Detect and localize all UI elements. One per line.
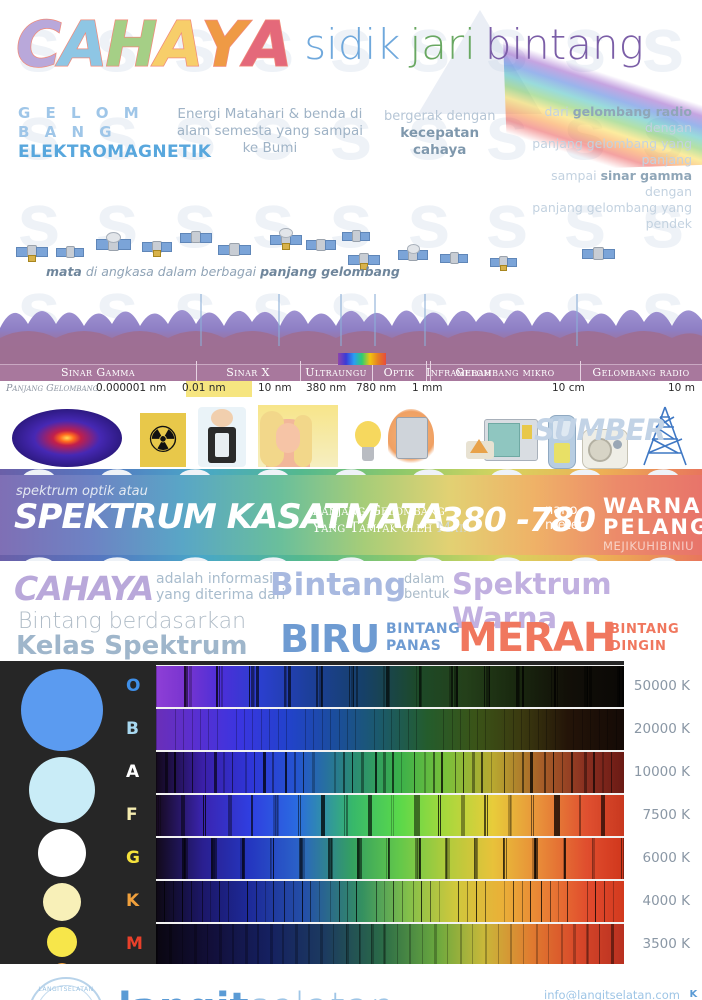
absorption-line xyxy=(251,666,254,707)
absorption-line xyxy=(219,666,220,707)
absorption-line xyxy=(351,666,353,707)
absorption-line xyxy=(284,666,286,707)
sources-label: SUMBER xyxy=(534,413,666,447)
title-letter: H xyxy=(106,14,156,76)
absorption-line xyxy=(383,709,384,750)
wave-mountains xyxy=(0,294,702,346)
absorption-line xyxy=(245,924,248,965)
wavelength-axis-title: Panjang Gelombang xyxy=(6,383,98,394)
stellar-spectra-chart: OBAFGKM 50000 K20000 K10000 K7500 K6000 … xyxy=(0,661,702,964)
absorption-line xyxy=(305,709,306,750)
absorption-line xyxy=(244,838,246,879)
absorption-line xyxy=(247,881,248,922)
absorption-line xyxy=(587,924,590,965)
absorption-line xyxy=(295,924,298,965)
absorption-line xyxy=(334,752,336,793)
absorption-line xyxy=(374,709,375,750)
pj-1b: Gelombang xyxy=(370,503,445,519)
absorption-line xyxy=(472,752,475,793)
absorption-line xyxy=(205,752,206,793)
pj-2a: Yang Tampak oleh xyxy=(312,520,437,536)
absorption-line xyxy=(202,881,203,922)
absorption-line xyxy=(529,709,530,750)
absorption-line xyxy=(282,924,284,965)
absorption-line xyxy=(599,924,601,965)
satellites-caption: mata di angkasa dalam berbagai panjang g… xyxy=(46,264,400,279)
absorption-line xyxy=(546,709,547,750)
absorption-line xyxy=(303,752,304,793)
absorption-line xyxy=(476,881,477,922)
absorption-line xyxy=(393,881,394,922)
star-disc-f xyxy=(43,883,81,921)
absorption-line xyxy=(485,709,486,750)
absorption-line xyxy=(561,924,563,965)
range-gamma: sinar gamma xyxy=(601,168,692,183)
stmt-biru: BIRU xyxy=(280,617,379,661)
absorption-line xyxy=(312,752,315,793)
absorption-line xyxy=(589,666,592,707)
absorption-line xyxy=(263,752,266,793)
absorption-line xyxy=(402,881,403,922)
star-disc-b xyxy=(29,757,95,823)
contact-list: info@langitselatan.comfacebook.com/langi… xyxy=(459,988,680,1000)
absorption-line xyxy=(156,838,157,879)
absorption-line xyxy=(584,752,587,793)
absorption-line xyxy=(221,666,223,707)
em-band-label: Optik xyxy=(372,366,426,379)
absorption-line xyxy=(169,924,172,965)
absorption-line xyxy=(192,752,193,793)
caption-mid: di angkasa dalam berbagai xyxy=(82,264,260,279)
absorption-line xyxy=(463,752,464,793)
spectrum-lines xyxy=(156,838,624,879)
absorption-line xyxy=(217,709,218,750)
stmt-merah: MERAH xyxy=(458,615,615,661)
range-radio: gelombang radio xyxy=(573,104,692,119)
optik-rainbow-icon xyxy=(338,353,386,365)
spectrum-row-b xyxy=(156,708,624,751)
absorption-line xyxy=(261,709,262,750)
caption-bold-mata: mata xyxy=(46,264,82,279)
absorption-line xyxy=(399,709,400,750)
absorption-line xyxy=(375,752,378,793)
dingin-line2: DINGIN xyxy=(610,638,679,655)
chart-temperature-column: 50000 K20000 K10000 K7500 K6000 K4000 K3… xyxy=(624,661,702,964)
absorption-line xyxy=(236,709,237,750)
absorption-line xyxy=(484,795,485,836)
satellite-icon xyxy=(398,246,427,268)
absorption-line xyxy=(328,838,330,879)
absorption-line xyxy=(438,795,439,836)
absorption-line xyxy=(251,795,252,836)
footer: LANGITSELATAN ASTRO IO1 ♞ langitselatan … xyxy=(0,964,702,1000)
absorption-line xyxy=(293,881,294,922)
absorption-line xyxy=(587,666,589,707)
unit-line2: meter xyxy=(545,518,584,533)
absorption-line xyxy=(346,795,347,836)
em-label-line1: G E L O M B A N G xyxy=(18,104,168,142)
absorption-line xyxy=(477,838,479,879)
absorption-line xyxy=(164,881,165,922)
brand-bold: langit xyxy=(118,985,249,1000)
absorption-line xyxy=(510,795,512,836)
absorption-line xyxy=(232,752,234,793)
microwave-oven-pizza-icon xyxy=(466,419,536,467)
star-disc-a xyxy=(38,829,86,877)
satellite-icon xyxy=(440,250,467,271)
temperature-label-m: 3500 K xyxy=(642,936,690,952)
spectrum-row-m xyxy=(156,923,624,966)
title-letter: Y xyxy=(201,14,244,76)
absorption-line xyxy=(567,881,568,922)
absorption-line xyxy=(611,924,614,965)
telescope-beam xyxy=(278,294,280,346)
absorption-line xyxy=(165,752,168,793)
page-title: CAHAYA xyxy=(16,14,290,76)
absorption-line xyxy=(310,881,311,922)
absorption-line xyxy=(361,752,364,793)
absorption-line xyxy=(541,881,542,922)
absorption-line xyxy=(522,881,523,922)
x-ray-child-icon xyxy=(198,407,246,467)
absorption-line xyxy=(352,752,353,793)
absorption-line xyxy=(208,709,209,750)
absorption-line xyxy=(504,838,505,879)
absorption-line xyxy=(277,795,279,836)
temperature-label-o: 50000 K xyxy=(634,678,690,694)
header: CAHAYA sidikjaribintang xyxy=(0,0,702,100)
absorption-line xyxy=(183,795,185,836)
spectral-class-b: B xyxy=(126,719,139,739)
absorption-line xyxy=(532,838,535,879)
absorption-line xyxy=(449,666,452,707)
absorption-line xyxy=(319,881,320,922)
absorption-line xyxy=(182,838,185,879)
absorption-line xyxy=(456,666,458,707)
absorption-line xyxy=(513,752,514,793)
absorption-line xyxy=(257,924,259,965)
absorption-line xyxy=(356,666,358,707)
absorption-line xyxy=(346,924,347,965)
absorption-line xyxy=(445,838,447,879)
dalam-line2: bentuk xyxy=(404,587,449,602)
absorption-line xyxy=(359,838,361,879)
range-2: panjang gelombang yang panjang xyxy=(508,136,692,168)
em-wavelength-row: Panjang Gelombang 0.000001 nm0.01 nm10 n… xyxy=(0,381,702,397)
absorption-line xyxy=(504,881,505,922)
absorption-line xyxy=(447,924,448,965)
absorption-line xyxy=(320,924,323,965)
intro-col-speed: bergerak dengan kecepatan cahaya xyxy=(372,104,508,232)
absorption-line xyxy=(319,666,322,707)
telescope-beam xyxy=(424,294,426,346)
absorption-line xyxy=(523,924,524,965)
satellite-icon xyxy=(582,244,614,269)
wavelength-label: 380 nm xyxy=(306,382,346,394)
absorption-line xyxy=(441,752,443,793)
absorption-line xyxy=(278,709,279,750)
absorption-line xyxy=(256,881,257,922)
absorption-line xyxy=(430,881,431,922)
absorption-line xyxy=(174,752,176,793)
absorption-line xyxy=(194,924,197,965)
satellite-icon xyxy=(56,244,83,265)
absorption-line xyxy=(322,709,323,750)
absorption-line xyxy=(510,924,512,965)
absorption-line xyxy=(451,666,453,707)
absorption-line xyxy=(333,924,335,965)
temperature-label-g: 6000 K xyxy=(642,850,690,866)
satellite-icon xyxy=(180,228,211,251)
absorption-line xyxy=(356,881,357,922)
absorption-line xyxy=(604,881,605,922)
title-letter: A xyxy=(60,14,106,76)
absorption-line xyxy=(298,795,299,836)
stmt-adalah: adalah informasi yang diterima dari xyxy=(156,571,285,603)
wavelength-label: 780 nm xyxy=(356,382,396,394)
absorption-line xyxy=(486,666,488,707)
telescope-beam xyxy=(374,294,376,346)
range-1c: dengan xyxy=(645,120,692,135)
absorption-line xyxy=(330,709,331,750)
panas-line2: PANAS xyxy=(386,638,460,655)
absorption-line xyxy=(574,924,576,965)
absorption-line xyxy=(392,752,394,793)
chart-star-column: OBAFGKM xyxy=(0,661,156,964)
spectral-class-a: A xyxy=(126,762,139,782)
absorption-line xyxy=(414,752,415,793)
absorption-line xyxy=(252,709,253,750)
satellite-icon xyxy=(96,234,130,260)
infrared-heater-icon xyxy=(388,409,434,467)
warna-line1: WARNA xyxy=(603,496,702,517)
em-band-label: Gelombang radio xyxy=(580,366,702,379)
absorption-line xyxy=(252,795,253,836)
absorption-line xyxy=(156,795,157,836)
spectral-class-o: O xyxy=(126,676,140,696)
absorption-line xyxy=(254,666,256,707)
rainbow-mnemonic: MEJIKUHIBINIU xyxy=(603,539,694,553)
wavelength-label: 10 m xyxy=(668,382,695,394)
absorption-line xyxy=(244,709,245,750)
absorption-line xyxy=(343,752,345,793)
absorption-line xyxy=(522,666,525,707)
spectrum-lines xyxy=(156,881,624,922)
absorption-line xyxy=(270,838,271,879)
absorption-line xyxy=(323,795,325,836)
temperature-label-f: 7500 K xyxy=(642,807,690,823)
dingin-line1: BINTANG xyxy=(610,621,679,638)
absorption-line xyxy=(347,795,348,836)
wavelength-label: 0.01 nm xyxy=(182,382,226,394)
em-band-label: Gelombang mikro xyxy=(430,366,580,379)
title-letter: C xyxy=(16,14,60,76)
absorption-line xyxy=(391,795,392,836)
absorption-line xyxy=(579,795,580,836)
light-bulb-icon xyxy=(352,419,384,467)
absorption-line xyxy=(330,881,331,922)
absorption-line xyxy=(189,666,192,707)
absorption-line xyxy=(284,881,285,922)
absorption-line xyxy=(214,752,217,793)
stmt-cahaya: CAHAYA xyxy=(14,569,153,608)
adalah-line1: adalah informasi xyxy=(156,571,285,587)
absorption-line xyxy=(182,881,183,922)
absorption-line xyxy=(254,752,255,793)
absorption-line xyxy=(158,795,159,836)
absorption-line xyxy=(397,924,398,965)
absorption-line xyxy=(587,881,588,922)
absorption-line xyxy=(286,709,287,750)
telescope-beam xyxy=(340,294,342,346)
absorption-line xyxy=(590,709,591,750)
absorption-line xyxy=(242,838,244,879)
adalah-line2: yang diterima dari xyxy=(156,587,285,603)
visible-range-unit: nano meter xyxy=(545,503,584,533)
absorption-line xyxy=(203,795,204,836)
panas-line1: BINTANG xyxy=(386,621,460,638)
absorption-line xyxy=(200,709,201,750)
absorption-line xyxy=(595,881,596,922)
absorption-line xyxy=(617,666,619,707)
unit-line1: nano xyxy=(545,503,584,518)
absorption-line xyxy=(477,709,478,750)
absorption-line xyxy=(548,924,549,965)
absorption-line xyxy=(210,881,211,922)
statement-row-2: Bintang berdasarkan Kelas Spektrum BIRU … xyxy=(0,609,702,661)
absorption-line xyxy=(487,795,488,836)
absorption-line xyxy=(384,881,385,922)
absorption-line xyxy=(531,795,532,836)
absorption-line xyxy=(371,924,372,965)
absorption-line xyxy=(580,795,581,836)
absorption-line xyxy=(360,838,362,879)
em-band-divider xyxy=(430,361,431,383)
absorption-line xyxy=(593,752,595,793)
temperature-label-a: 10000 K xyxy=(634,764,690,780)
absorption-line xyxy=(240,838,242,879)
absorption-line xyxy=(513,709,514,750)
absorption-line xyxy=(215,838,217,879)
pj-1a: Panjang xyxy=(312,503,370,519)
intro-col-range: dari gelombang radio dengan panjang gelo… xyxy=(508,104,692,232)
absorption-line xyxy=(558,881,559,922)
em-band-divider xyxy=(426,361,427,383)
absorption-line xyxy=(156,666,157,707)
absorption-line xyxy=(370,795,372,836)
brand-light: selatan xyxy=(249,985,396,1000)
absorption-line xyxy=(503,838,504,879)
absorption-line xyxy=(558,795,560,836)
absorption-line xyxy=(593,838,595,879)
absorption-line xyxy=(156,709,157,750)
absorption-line xyxy=(603,795,605,836)
absorption-line xyxy=(460,709,461,750)
visible-spectrum-band: spektrum optik atau SPEKTRUM KASATMATA P… xyxy=(0,475,702,555)
absorption-line xyxy=(582,709,583,750)
absorption-line xyxy=(516,666,519,707)
absorption-line xyxy=(330,838,332,879)
absorption-line xyxy=(550,881,551,922)
absorption-line xyxy=(175,709,176,750)
seal-top-text: LANGITSELATAN xyxy=(30,986,102,993)
page-subtitle: sidikjaribintang xyxy=(304,14,644,76)
wave-graphic-icon xyxy=(0,294,702,346)
em-band-label: Sinar Gamma xyxy=(0,366,196,379)
stmt-kelas-spektrum: Kelas Spektrum xyxy=(16,631,247,661)
absorption-line xyxy=(156,752,157,793)
absorption-line xyxy=(388,838,389,879)
subtitle-word: bintang xyxy=(485,14,644,76)
spectrum-row-g xyxy=(156,837,624,880)
absorption-line xyxy=(485,881,486,922)
absorption-line xyxy=(416,709,417,750)
absorption-line xyxy=(256,666,259,707)
spectrum-row-k xyxy=(156,880,624,923)
absorption-line xyxy=(228,881,229,922)
absorption-line xyxy=(353,666,354,707)
absorption-line xyxy=(434,924,436,965)
absorption-line xyxy=(316,666,318,707)
caption-bold-pg: panjang gelombang xyxy=(260,264,400,279)
logo-seal-icon: LANGITSELATAN ASTRO IO1 ♞ xyxy=(28,977,104,1000)
absorption-line xyxy=(156,881,157,922)
absorption-line xyxy=(439,881,440,922)
absorption-line xyxy=(269,709,270,750)
contact-line[interactable]: info@langitselatan.com xyxy=(459,988,680,1000)
absorption-line xyxy=(489,666,490,707)
intro-col-energy: Energi Matahari & benda di alam semesta … xyxy=(168,104,372,232)
absorption-line xyxy=(616,709,617,750)
absorption-line xyxy=(183,752,185,793)
absorption-line xyxy=(216,666,218,707)
absorption-line xyxy=(339,709,340,750)
absorption-line xyxy=(299,838,302,879)
absorption-line xyxy=(460,924,462,965)
dalam-line1: dalam xyxy=(404,572,449,587)
absorption-line xyxy=(230,795,232,836)
kontak-letter: K xyxy=(689,988,698,1000)
telescope-beam xyxy=(576,294,578,346)
em-band-divider xyxy=(196,361,197,383)
absorption-line xyxy=(219,881,220,922)
absorption-line xyxy=(573,709,574,750)
absorption-line xyxy=(571,752,574,793)
absorption-line xyxy=(271,838,272,879)
spectral-class-k: K xyxy=(126,891,139,911)
em-sources-row: SUMBER ☢ xyxy=(0,397,702,469)
absorption-line xyxy=(454,666,457,707)
stmt-bintang-panas: BINTANG PANAS xyxy=(386,621,460,655)
absorption-line xyxy=(422,924,423,965)
rainbow-colors-label: WARNA PELANGI xyxy=(603,496,702,538)
absorption-line xyxy=(182,924,184,965)
title-letter: A xyxy=(155,14,201,76)
absorption-line xyxy=(249,666,251,707)
absorption-line xyxy=(401,752,402,793)
absorption-line xyxy=(211,838,213,879)
sunbathing-woman-icon xyxy=(258,405,338,467)
absorption-line xyxy=(294,752,296,793)
absorption-line xyxy=(538,709,539,750)
absorption-line xyxy=(452,709,453,750)
absorption-line xyxy=(455,752,457,793)
absorption-line xyxy=(521,709,522,750)
intro-columns: G E L O M B A N G ELEKTROMAGNETIK Energi… xyxy=(0,100,702,232)
absorption-line xyxy=(376,881,377,922)
absorption-line xyxy=(498,924,499,965)
satellite-icon xyxy=(490,254,516,274)
